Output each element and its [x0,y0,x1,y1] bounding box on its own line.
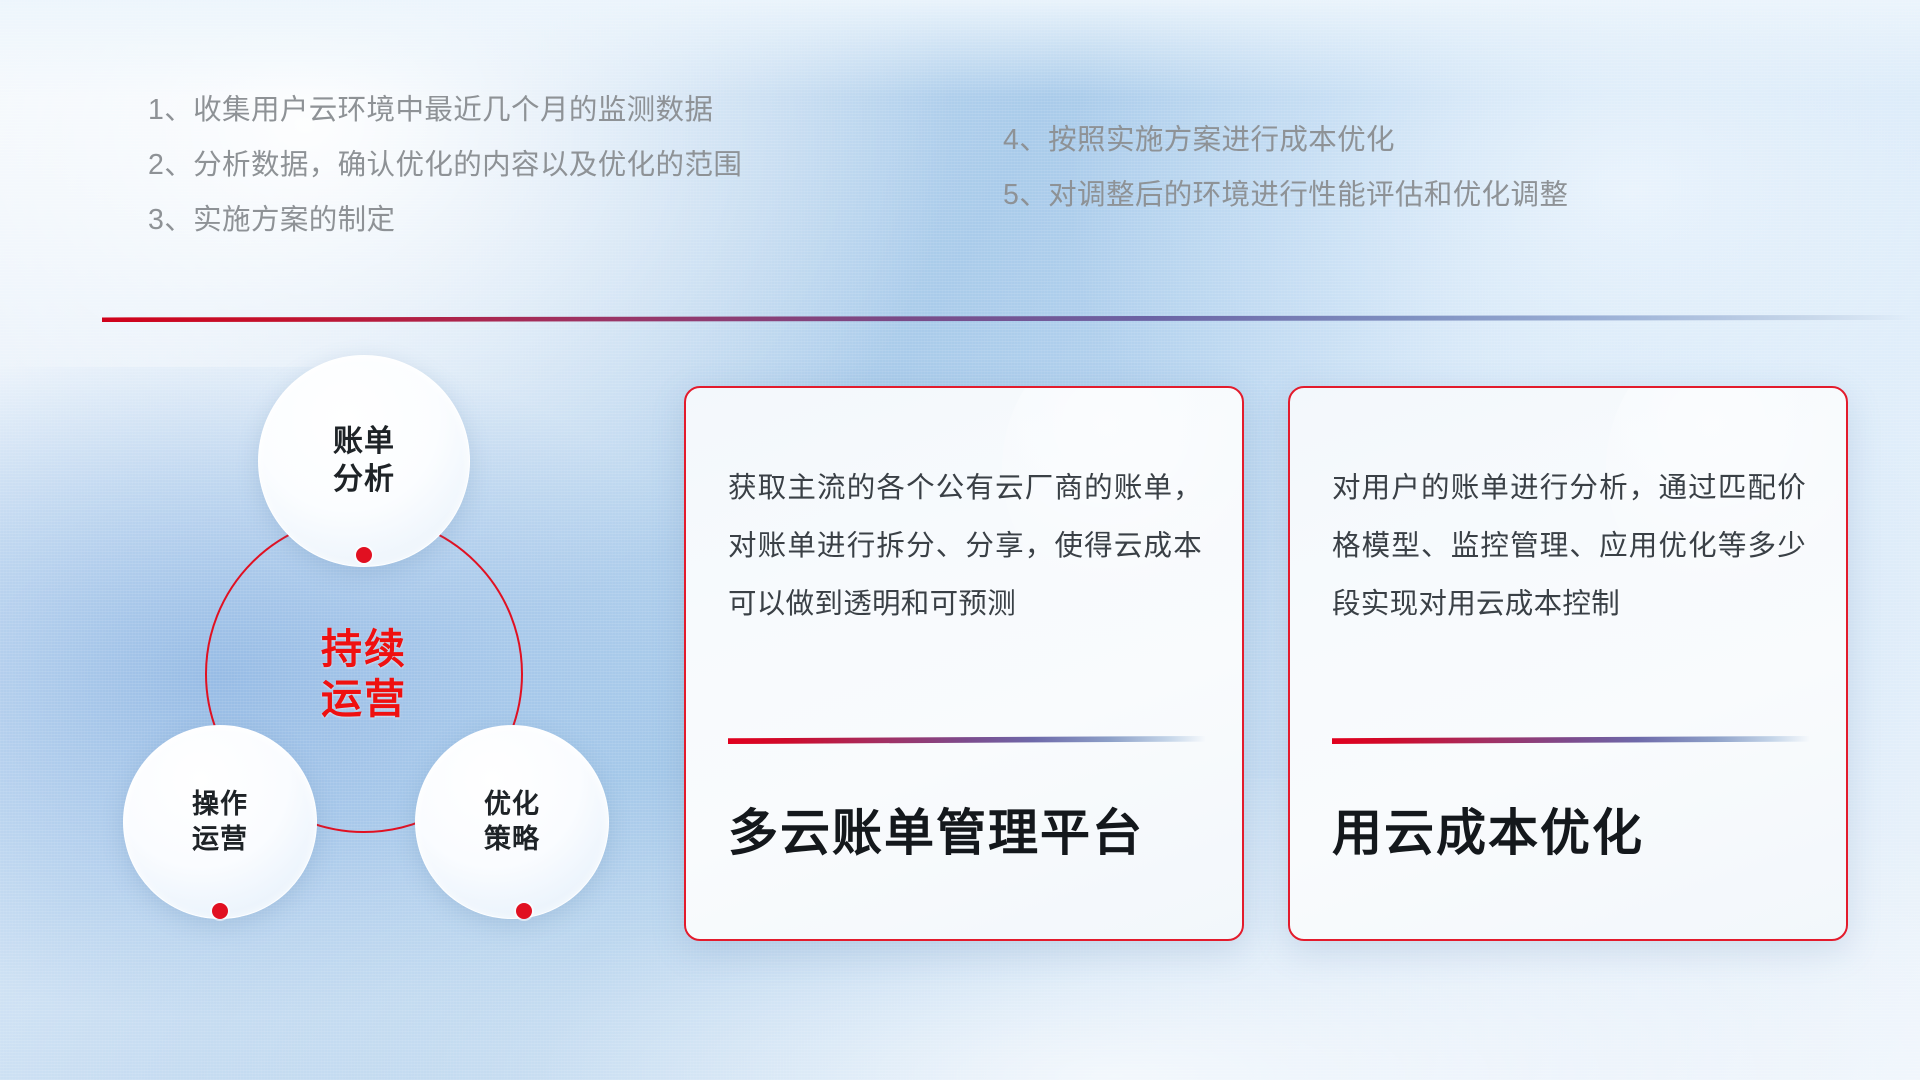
process-steps-left-column: 1、收集用户云环境中最近几个月的监测数据 2、分析数据，确认优化的内容以及优化的… [148,96,742,261]
section-divider [102,315,1912,322]
diagram-bubble-optimization-strategy[interactable]: 优化 策略 [415,725,609,919]
diagram-bubble-operations[interactable]: 操作 运营 [123,725,317,919]
process-step-item: 4、按照实施方案进行成本优化 [1003,126,1568,155]
card-body-text: 对用户的账单进行分析，通过匹配价格模型、监控管理、应用优化等多少段实现对用云成本… [1332,460,1806,718]
diagram-bubble-label-line2: 分析 [333,461,395,499]
diagram-node-dot [516,903,532,919]
diagram-bubble-label-line1: 账单 [333,423,395,461]
diagram-node-dot [212,903,228,919]
diagram-bubble-label-line1: 操作 [192,787,248,822]
card-multicloud-billing-platform[interactable]: 获取主流的各个公有云厂商的账单，对账单进行拆分、分享，使得云成本可以做到透明和可… [684,386,1244,941]
diagram-bubble-label-line2: 策略 [484,822,540,857]
process-step-item: 5、对调整后的环境进行性能评估和优化调整 [1003,181,1568,210]
card-body-text: 获取主流的各个公有云厂商的账单，对账单进行拆分、分享，使得云成本可以做到透明和可… [728,460,1202,718]
process-steps-right-column: 4、按照实施方案进行成本优化 5、对调整后的环境进行性能评估和优化调整 [1003,126,1568,236]
process-step-item: 1、收集用户云环境中最近几个月的监测数据 [148,96,742,125]
card-divider-bar [1332,736,1810,744]
card-cloud-cost-optimization[interactable]: 对用户的账单进行分析，通过匹配价格模型、监控管理、应用优化等多少段实现对用云成本… [1288,386,1848,941]
diagram-bubble-label-line1: 优化 [484,787,540,822]
diagram-bubble-bill-analysis[interactable]: 账单 分析 [258,355,470,567]
card-divider-bar [728,736,1206,744]
card-divider [728,736,1206,744]
diagram-bubble-label-line2: 运营 [192,822,248,857]
process-step-item: 2、分析数据，确认优化的内容以及优化的范围 [148,151,742,180]
diagram-center-label-line1: 持续 [321,624,407,674]
diagram-center-label-line2: 运营 [321,674,407,724]
continuous-operation-diagram: 持续 运营 账单 分析 操作 运营 优化 策略 [95,355,635,935]
section-divider-bar [102,315,1912,322]
card-content: 对用户的账单进行分析，通过匹配价格模型、监控管理、应用优化等多少段实现对用云成本… [1290,388,1846,939]
card-divider [1332,736,1810,744]
process-steps-list: 1、收集用户云环境中最近几个月的监测数据 2、分析数据，确认优化的内容以及优化的… [148,96,1788,246]
card-title: 多云账单管理平台 [728,806,1202,861]
process-step-item: 3、实施方案的制定 [148,206,742,235]
card-content: 获取主流的各个公有云厂商的账单，对账单进行拆分、分享，使得云成本可以做到透明和可… [686,388,1242,939]
card-title: 用云成本优化 [1332,806,1806,861]
diagram-node-dot [356,547,372,563]
